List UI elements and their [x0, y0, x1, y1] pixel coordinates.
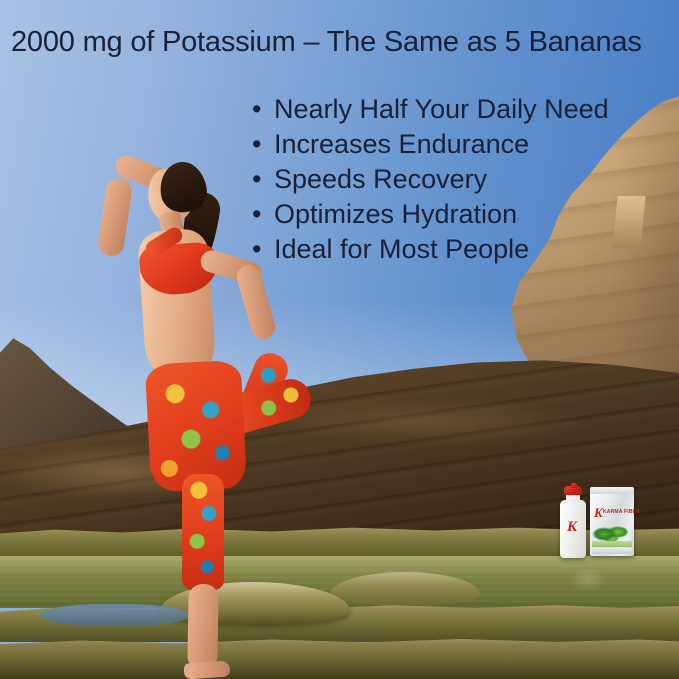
benefits-list: • Nearly Half Your Daily Need • Increase… — [252, 92, 609, 267]
product-group: K KARMA FIBER K — [556, 486, 648, 558]
bullet-dot-icon: • — [252, 127, 274, 162]
raised-arm-forearm — [97, 177, 134, 258]
benefit-label: Ideal for Most People — [274, 232, 529, 267]
floral-leggings-leg — [182, 474, 224, 590]
benefit-label: Increases Endurance — [274, 127, 529, 162]
list-item: • Optimizes Hydration — [252, 197, 609, 232]
benefit-label: Speeds Recovery — [274, 162, 487, 197]
pouch-brand-text: KARMA FIBER — [603, 510, 640, 515]
bottle-k-logo-icon: K — [567, 520, 577, 535]
benefit-label: Nearly Half Your Daily Need — [274, 92, 609, 127]
bullet-dot-icon: • — [252, 197, 274, 232]
list-item: • Ideal for Most People — [252, 232, 609, 267]
puddle-reflection — [40, 604, 190, 626]
back-arm-forearm — [234, 262, 278, 342]
benefit-label: Optimizes Hydration — [274, 197, 517, 232]
bare-foot — [183, 660, 230, 679]
bullet-dot-icon: • — [252, 232, 274, 267]
bullet-dot-icon: • — [252, 162, 274, 197]
pouch-bottom-gusset — [592, 548, 632, 554]
list-item: • Increases Endurance — [252, 127, 609, 162]
pouch-k-logo-icon: K — [594, 506, 603, 519]
cliff-rock-notch — [612, 196, 645, 248]
standing-leg-calf — [187, 584, 218, 671]
list-item: • Speeds Recovery — [252, 162, 609, 197]
pouch-color-band — [592, 541, 632, 547]
pouch-leaf-artwork — [592, 524, 632, 542]
floral-leggings-hips — [145, 360, 248, 493]
pouch-top-seal — [590, 487, 634, 494]
page-title: 2000 mg of Potassium – The Same as 5 Ban… — [11, 28, 642, 57]
list-item: • Nearly Half Your Daily Need — [252, 92, 609, 127]
bullet-dot-icon: • — [252, 92, 274, 127]
bottle-cap-spout — [571, 483, 577, 488]
advertisement-image: K KARMA FIBER K 2000 mg of Potassium – T… — [0, 0, 679, 679]
